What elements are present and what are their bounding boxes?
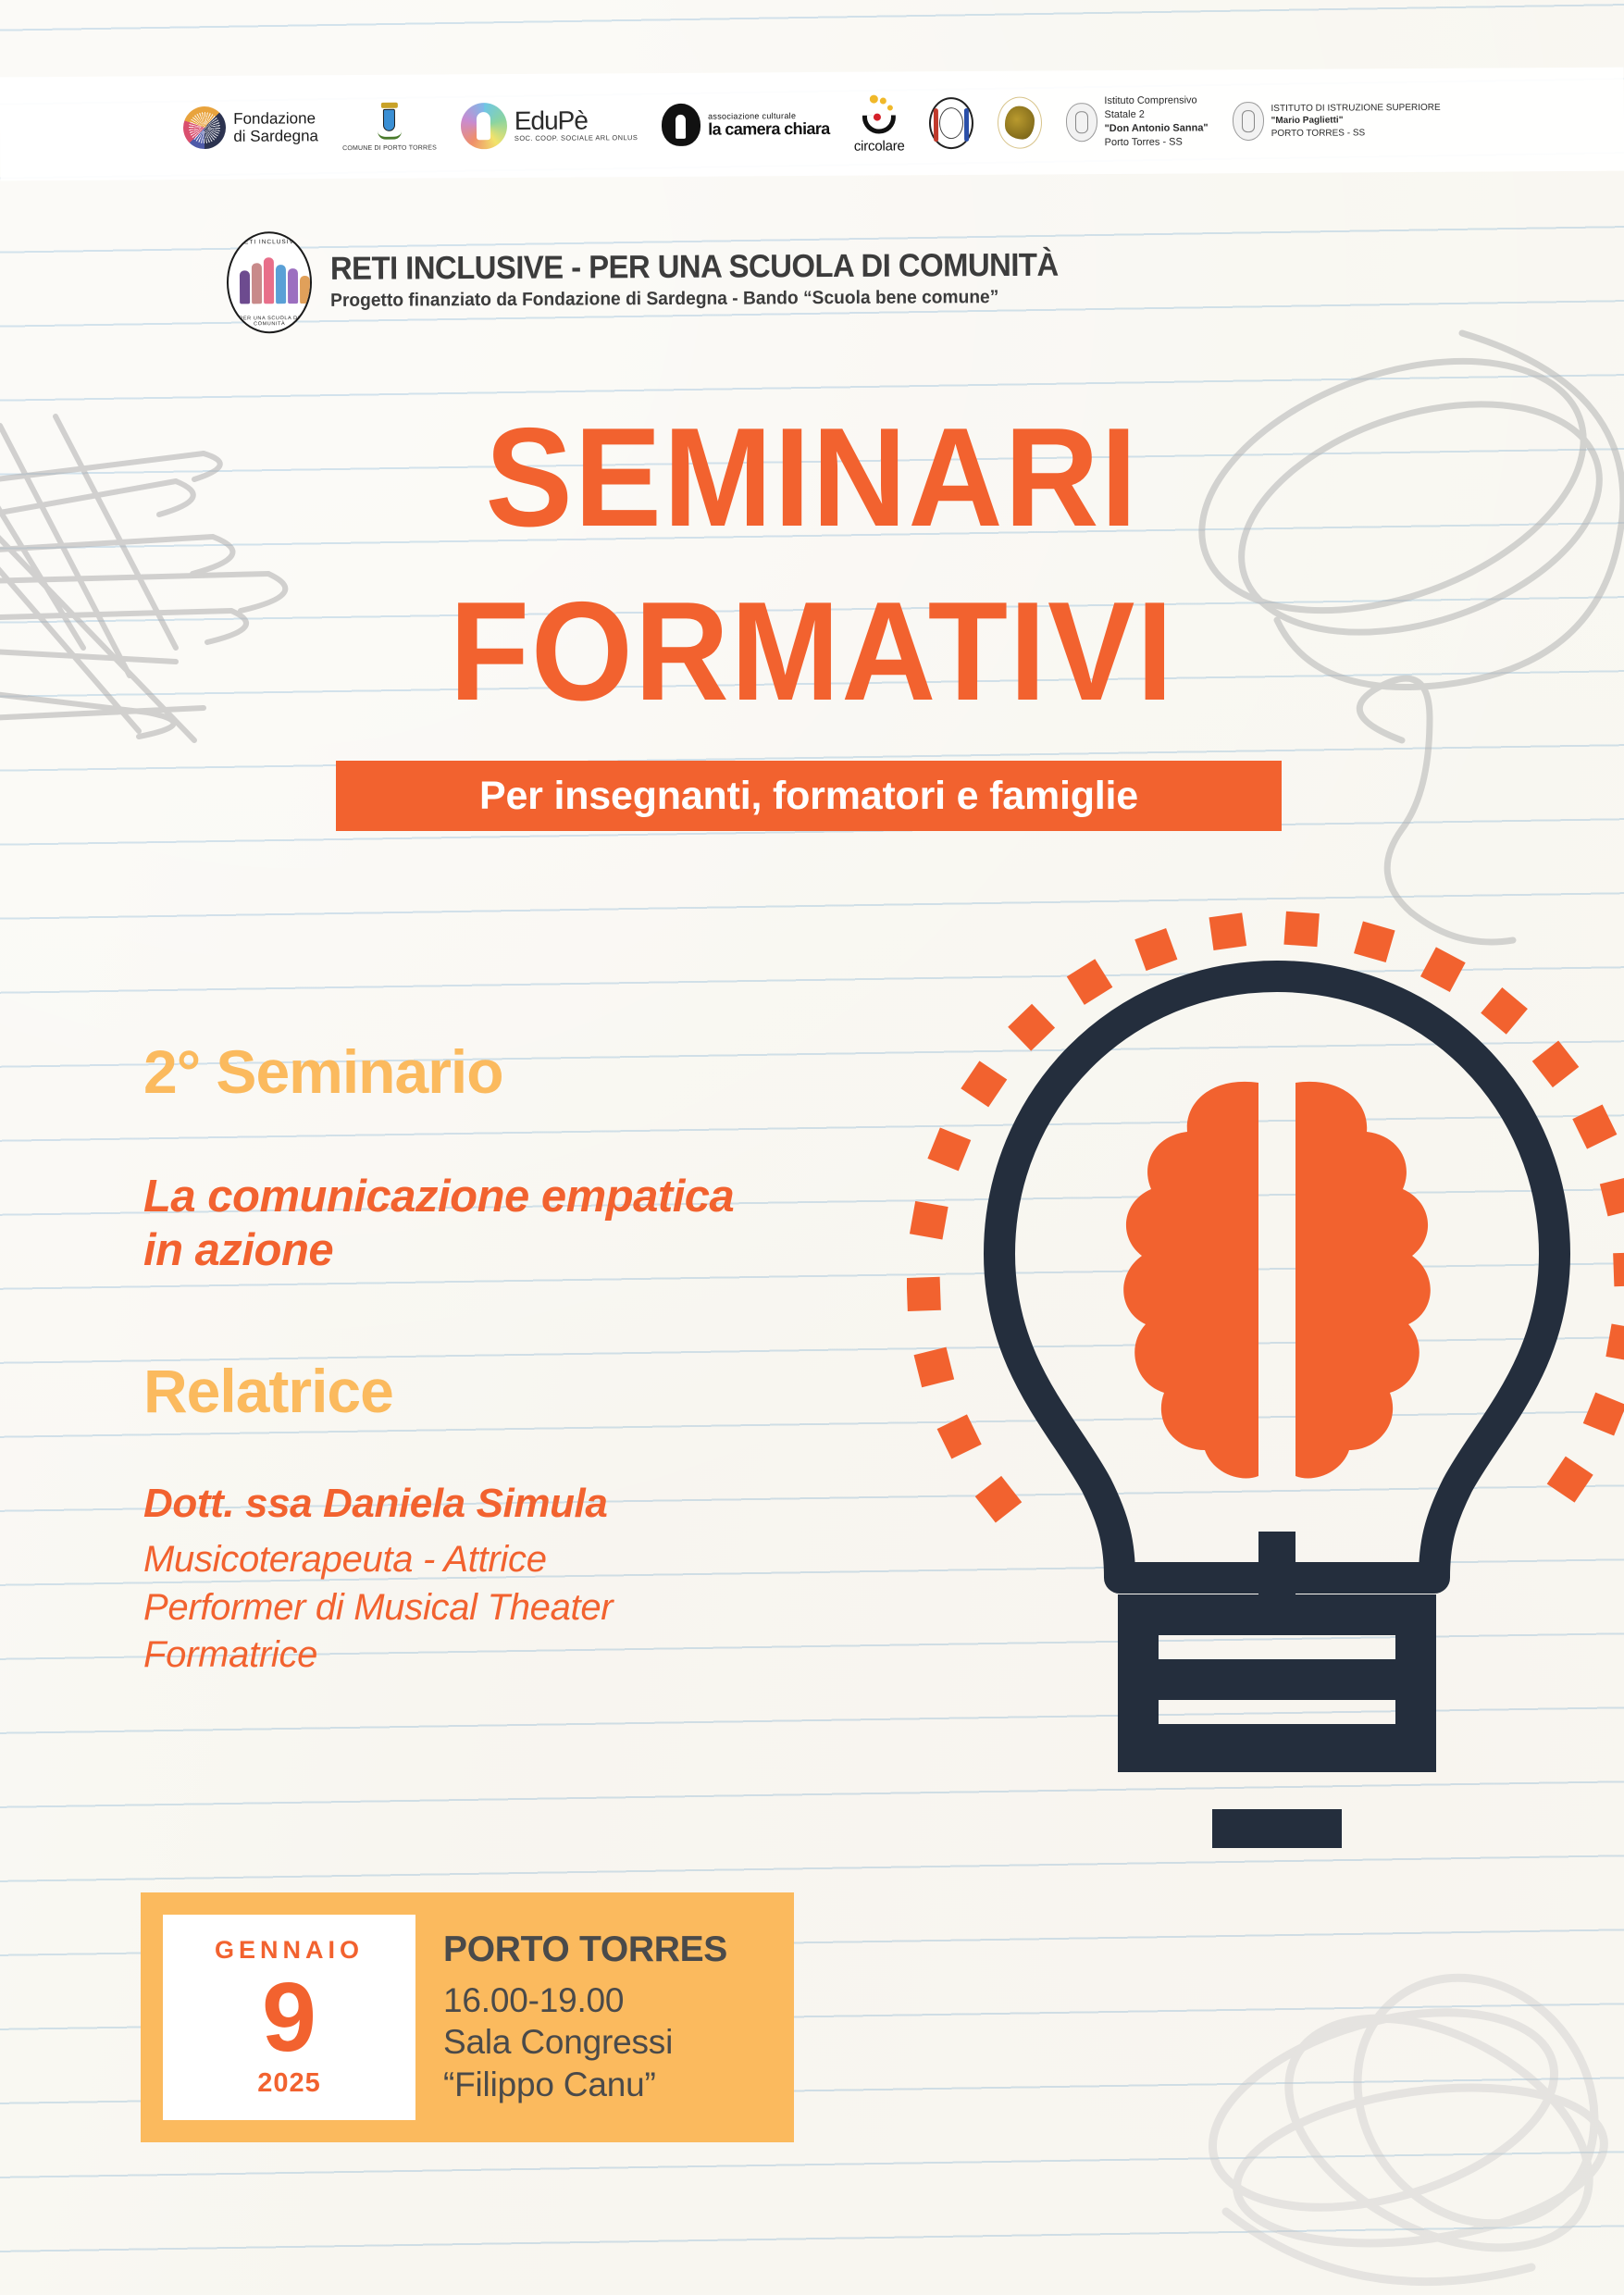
badge-top-text: RETI INCLUSIVE [229,239,310,245]
project-banner: RETI INCLUSIVE PER UNA SCUOLA DI COMUNIT… [227,228,1105,334]
associazione-sportiva-icon [928,97,973,149]
logo-comune-porto-torres: COMUNE DI PORTO TORRES [342,102,437,152]
project-subtitle: Progetto finanziato da Fondazione di Sar… [330,287,1074,312]
logo-sanna-line3: "Don Antonio Sanna" [1105,121,1209,136]
badge-figures [240,257,310,304]
edupe-icon [461,103,507,149]
event-time: 16.00-19.00 [443,1979,727,2021]
speaker-name: Dott. ssa Daniela Simula [143,1481,607,1527]
speaker-section-label: Relatrice [143,1356,393,1426]
logo-edupe: EduPè SOC. COOP. SOCIALE ARL ONLUS [461,102,638,149]
event-info-box: GENNAIO 9 2025 PORTO TORRES 16.00-19.00 … [141,1892,794,2142]
comune-crest-icon [376,102,403,143]
logo-paglietti-line3: PORTO TORRES - SS [1271,127,1441,141]
logo-edupe-wordmark: EduPè [514,108,638,133]
logo-edupe-text: EduPè SOC. COOP. SOCIALE ARL ONLUS [514,108,638,142]
reti-inclusive-badge-icon: RETI INCLUSIVE PER UNA SCUOLA DI COMUNIT… [227,231,313,333]
event-day: 9 [262,1968,316,2066]
logo-fondazione-line2: di Sardegna [233,127,318,145]
logo-sanna-line1: Istituto Comprensivo [1104,94,1208,109]
event-date-card: GENNAIO 9 2025 [163,1915,415,2120]
camera-chiara-icon [662,104,700,146]
fondazione-sardegna-icon [183,106,226,149]
logo-fondazione-text: Fondazione di Sardegna [233,109,318,145]
headline-line-2: FORMATIVI [56,581,1567,722]
partner-logo-strip: Fondazione di Sardegna COMUNE DI PORTO T… [0,68,1624,181]
logo-sanna-line4: Porto Torres - SS [1105,135,1209,150]
headline-block: SEMINARI FORMATIVI [0,407,1624,722]
event-month: GENNAIO [215,1936,364,1965]
event-venue-line1: Sala Congressi [443,2021,727,2063]
logo-circolare: circolare [853,93,904,154]
bulb-glass-outline [999,976,1555,1578]
project-title: RETI INCLUSIVE - PER UNA SCUOLA DI COMUN… [330,248,1059,286]
logo-fondazione-line1: Fondazione [233,109,318,128]
logo-circolare-wordmark: circolare [854,138,905,154]
logo-camera-line2: la camera chiara [708,120,830,138]
brain-right-hemisphere [1295,1082,1431,1479]
badge-bottom-text: PER UNA SCUOLA DI COMUNITÀ [229,316,310,327]
headline-line-1: SEMINARI [56,407,1567,548]
headline-band: Per insegnanti, formatori e famiglie [336,761,1282,831]
poster-canvas: Fondazione di Sardegna COMUNE DI PORTO T… [0,0,1624,2295]
logo-associazione-sportiva [928,97,973,149]
speaker-roles: Musicoterapeuta - Attrice Performer di M… [143,1536,613,1680]
logo-sanna-text: Istituto Comprensivo Statale 2 "Don Anto… [1104,94,1208,150]
studiodanza-icon [997,96,1041,148]
circolare-icon [857,93,901,137]
seminar-number-label: 2° Seminario [143,1036,503,1107]
logo-comune-caption: COMUNE DI PORTO TORRES [342,144,437,152]
headline-band-text: Per insegnanti, formatori e famiglie [479,774,1138,819]
brain-left-hemisphere [1123,1082,1258,1479]
logo-istituto-mario-paglietti: ISTITUTO DI ISTRUZIONE SUPERIORE "Mario … [1232,101,1440,141]
repubblica-emblem-icon-2 [1232,102,1263,141]
project-text-block: RETI INCLUSIVE - PER UNA SCUOLA DI COMUN… [330,248,1105,312]
event-year: 2025 [257,2068,321,2099]
repubblica-emblem-icon [1065,103,1097,142]
logo-la-camera-chiara: associazione culturale la camera chiara [662,103,830,146]
logo-edupe-subtitle: SOC. COOP. SOCIALE ARL ONLUS [514,133,638,143]
logo-paglietti-line2: "Mario Paglietti" [1271,114,1441,128]
seminar-topic: La comunicazione empatica in azione [143,1171,736,1278]
event-city: PORTO TORRES [443,1929,727,1970]
logo-sanna-line2: Statale 2 [1104,108,1208,123]
event-place-block: PORTO TORRES 16.00-19.00 Sala Congressi … [443,1929,727,2104]
logo-fondazione-di-sardegna: Fondazione di Sardegna [183,105,318,149]
logo-istituto-don-antonio-sanna: Istituto Comprensivo Statale 2 "Don Anto… [1065,94,1208,150]
event-venue-line2: “Filippo Canu” [443,2064,727,2105]
logo-studiodanza [997,96,1041,148]
logo-paglietti-line1: ISTITUTO DI ISTRUZIONE SUPERIORE [1271,102,1440,116]
logo-camera-text: associazione culturale la camera chiara [708,111,830,138]
lightbulb-with-brain-icon [907,884,1624,1994]
logo-paglietti-text: ISTITUTO DI ISTRUZIONE SUPERIORE "Mario … [1271,102,1440,141]
